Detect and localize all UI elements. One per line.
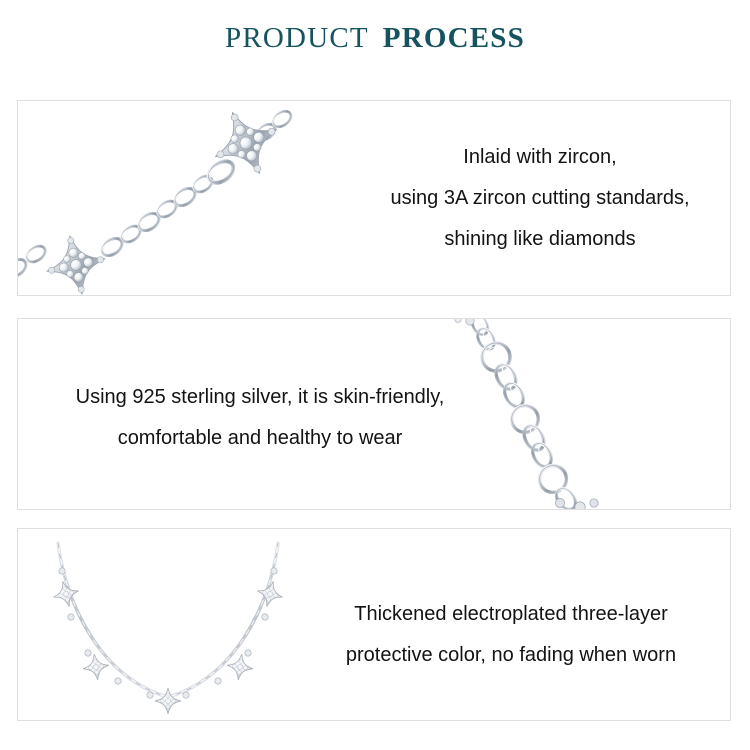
zircon-chain-illustration — [18, 101, 348, 295]
necklace-illustration — [18, 529, 318, 720]
page-title-light: PRODUCT — [225, 22, 369, 54]
panel-2-line-1: Using 925 sterling silver, it is skin-fr… — [30, 377, 490, 418]
feature-panel-electroplating: Thickened electroplated three-layer prot… — [17, 528, 731, 721]
panel-2-text-block: Using 925 sterling silver, it is skin-fr… — [30, 377, 490, 459]
panel-3-line-2: protective color, no fading when worn — [290, 635, 731, 676]
panel-1-text-block: Inlaid with zircon, using 3A zircon cutt… — [348, 137, 731, 260]
full-star-necklace-image — [18, 529, 318, 720]
page-title: PRODUCTPROCESS — [0, 22, 750, 55]
feature-panel-sterling-silver: Using 925 sterling silver, it is skin-fr… — [17, 318, 731, 510]
zircon-star-chain-closeup-image — [18, 101, 348, 295]
panel-1-line-2: using 3A zircon cutting standards, — [348, 178, 731, 219]
feature-panel-zircon: Inlaid with zircon, using 3A zircon cutt… — [17, 100, 731, 296]
page-title-bold: PROCESS — [383, 22, 525, 54]
panel-3-text-block: Thickened electroplated three-layer prot… — [290, 594, 731, 676]
panel-1-line-3: shining like diamonds — [348, 219, 731, 260]
panel-3-line-1: Thickened electroplated three-layer — [290, 594, 731, 635]
panel-1-line-1: Inlaid with zircon, — [348, 137, 731, 178]
panel-2-line-2: comfortable and healthy to wear — [30, 418, 490, 459]
